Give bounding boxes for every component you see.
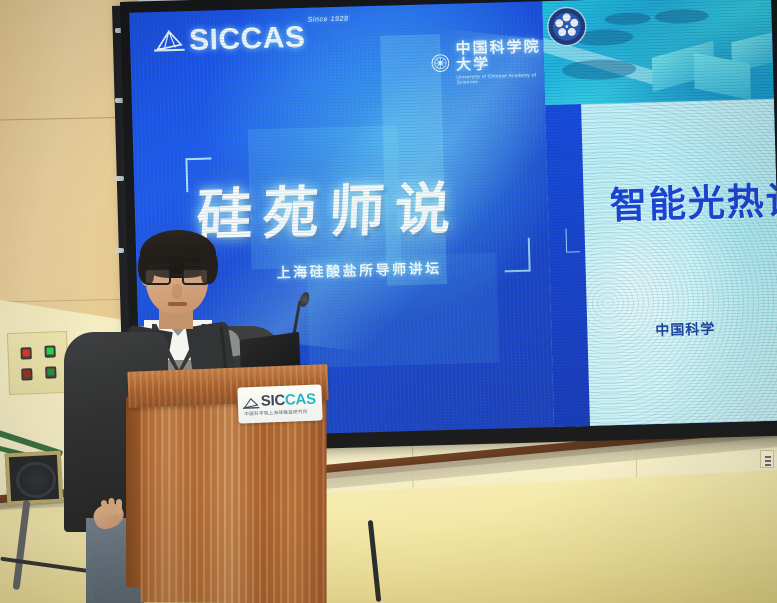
- podium-body: [141, 397, 327, 603]
- podium-wood-grain: [141, 397, 327, 603]
- nose: [172, 284, 182, 299]
- control-red-button-top[interactable]: [20, 347, 31, 359]
- plaque-wordmark-sic: SIC: [261, 392, 286, 410]
- wall-power-socket[interactable]: [760, 450, 774, 468]
- slide-right-corner-bracket: [566, 228, 581, 252]
- cable-coil: [15, 461, 57, 499]
- slide-right-title: 智能光热诊: [609, 170, 777, 229]
- glasses-lens-right: [182, 268, 209, 285]
- glasses-lens-left: [144, 268, 171, 285]
- slide-right-subtitle: 中国科学: [655, 319, 716, 341]
- lecture-hall-scene: SICCAS Since 1928 中国科学院大学 University of …: [0, 0, 777, 603]
- slide-right: 智能光热诊 中国科学: [542, 0, 777, 427]
- finger: [116, 499, 122, 515]
- siccas-since-text: Since 1928: [307, 16, 348, 24]
- control-red-button-bottom[interactable]: [21, 368, 32, 380]
- mouth: [168, 302, 187, 306]
- glasses-bridge: [171, 274, 182, 276]
- wall-cable-port[interactable]: [5, 451, 64, 506]
- siccas-wordmark: SICCAS: [189, 24, 306, 54]
- ucas-name-cn: 中国科学院大学: [455, 39, 544, 73]
- plaque-institute-name: 中国科学院上海硅酸盐研究所: [244, 409, 308, 417]
- siccas-crystal-icon: [242, 397, 260, 411]
- campus-trees: [605, 12, 651, 25]
- plaque-wordmark: SICCAS: [261, 392, 316, 409]
- siccas-crystal-icon: [152, 28, 187, 55]
- cas-seal-icon: [546, 6, 587, 47]
- campus-trees: [562, 59, 637, 81]
- ucas-logo: 中国科学院大学 University of Chinese Academy of…: [430, 39, 544, 85]
- control-green-button-top[interactable]: [44, 345, 55, 357]
- control-green-button-bottom[interactable]: [45, 366, 56, 378]
- campus-trees: [654, 9, 708, 25]
- ucas-seal-icon: [430, 50, 450, 77]
- plaque-wordmark-cas: CAS: [285, 391, 316, 409]
- eyeglasses-icon: [144, 268, 211, 285]
- podium-plaque: SICCAS 中国科学院上海硅酸盐研究所: [237, 384, 322, 423]
- siccas-logo: SICCAS: [152, 24, 306, 55]
- ucas-text-block: 中国科学院大学 University of Chinese Academy of…: [455, 39, 544, 84]
- screen-frame-highlight: [115, 176, 124, 181]
